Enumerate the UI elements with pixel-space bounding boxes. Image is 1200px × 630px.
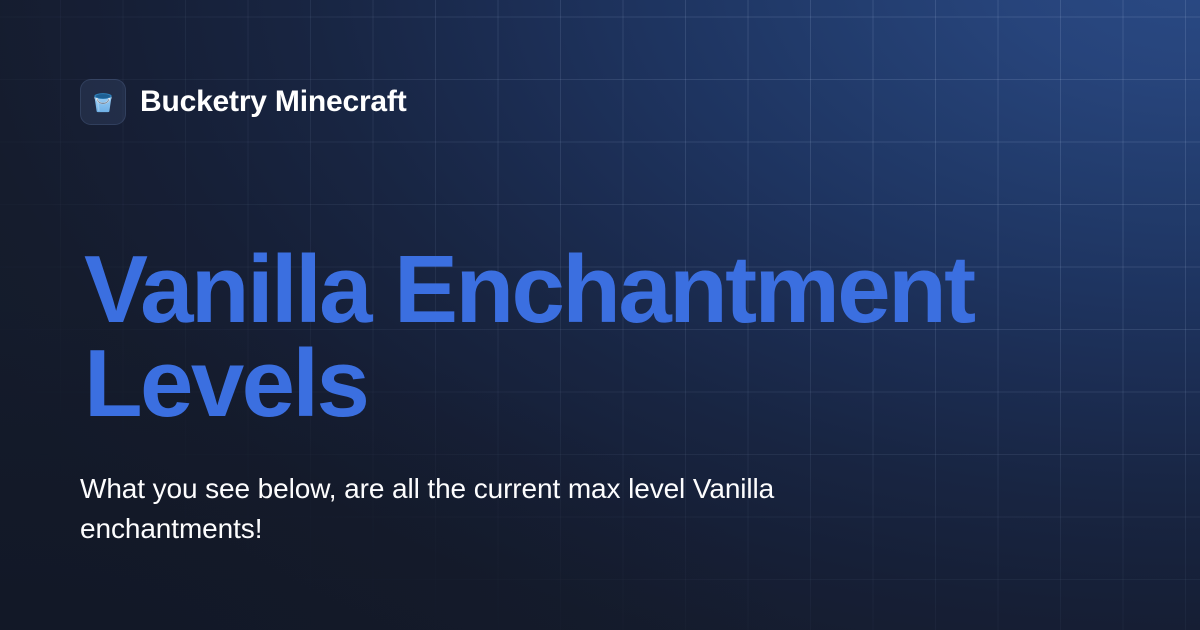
brand-name: Bucketry Minecraft — [140, 87, 407, 117]
og-banner-card: Bucketry Minecraft Vanilla Enchantment L… — [0, 0, 1200, 630]
brand-lockup: Bucketry Minecraft — [80, 79, 407, 125]
page-subtitle: What you see below, are all the current … — [80, 469, 870, 549]
page-title: Vanilla Enchantment Levels — [84, 243, 1084, 431]
brand-badge — [80, 79, 126, 125]
water-bucket-icon — [89, 88, 117, 116]
banner-content: Bucketry Minecraft Vanilla Enchantment L… — [0, 0, 1200, 630]
